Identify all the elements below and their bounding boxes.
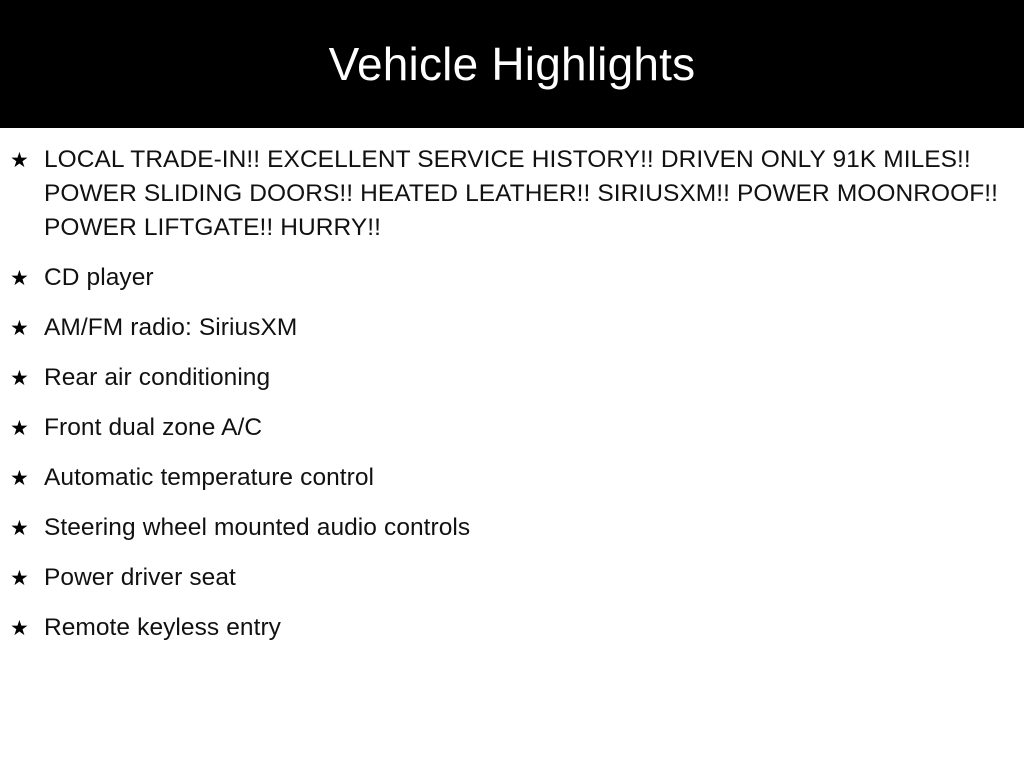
list-item-label: Steering wheel mounted audio controls [44,511,998,545]
list-item: ★ AM/FM radio: SiriusXM [0,311,1024,345]
list-item-label: Rear air conditioning [44,361,998,395]
list-item-label: LOCAL TRADE-IN!! EXCELLENT SERVICE HISTO… [44,143,998,245]
list-item: ★ Front dual zone A/C [0,411,1024,445]
vehicle-highlights-page: Vehicle Highlights ★ LOCAL TRADE-IN!! EX… [0,0,1024,768]
list-item-label: AM/FM radio: SiriusXM [44,311,998,345]
list-item-label: CD player [44,261,998,295]
list-item: ★ Automatic temperature control [0,461,1024,495]
list-item: ★ CD player [0,261,1024,295]
star-bullet-icon: ★ [10,311,44,345]
list-item: ★ Rear air conditioning [0,361,1024,395]
star-bullet-icon: ★ [10,143,44,177]
vehicle-highlights-list: ★ LOCAL TRADE-IN!! EXCELLENT SERVICE HIS… [0,143,1024,645]
list-item-label: Automatic temperature control [44,461,998,495]
star-bullet-icon: ★ [10,511,44,545]
star-bullet-icon: ★ [10,611,44,645]
star-bullet-icon: ★ [10,561,44,595]
list-item-label: Front dual zone A/C [44,411,998,445]
list-item: ★ Power driver seat [0,561,1024,595]
star-bullet-icon: ★ [10,261,44,295]
list-item: ★ LOCAL TRADE-IN!! EXCELLENT SERVICE HIS… [0,143,1024,245]
list-item-label: Power driver seat [44,561,998,595]
list-item: ★ Remote keyless entry [0,611,1024,645]
page-title: Vehicle Highlights [329,38,696,90]
list-item-label: Remote keyless entry [44,611,998,645]
header-banner: Vehicle Highlights [0,0,1024,128]
star-bullet-icon: ★ [10,461,44,495]
list-item: ★ Steering wheel mounted audio controls [0,511,1024,545]
star-bullet-icon: ★ [10,361,44,395]
star-bullet-icon: ★ [10,411,44,445]
